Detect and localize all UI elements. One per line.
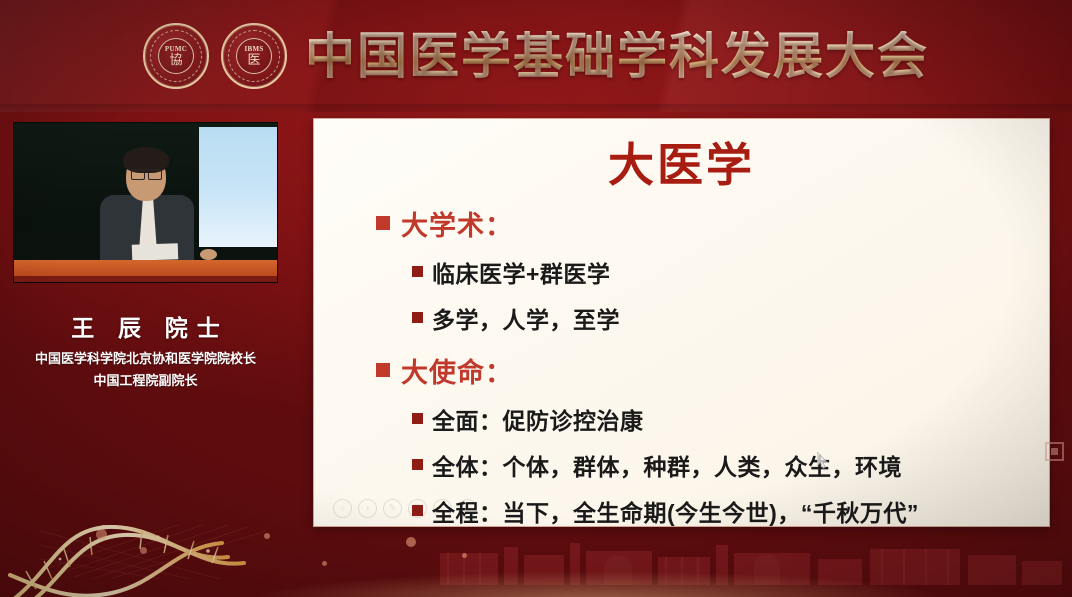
sub-bullet-square-icon [412, 312, 423, 323]
ibms-seal-inner: IBMS 医 [236, 38, 272, 74]
slideshow-toolbar[interactable]: ‹ › ✎ ▦ ⌕ ⋯ [333, 499, 477, 518]
slide-sub-item-text: 临床医学+群医学 [432, 255, 610, 289]
slide-sub-item-text: 多学，人学，至学 [432, 301, 620, 335]
presentation-slide[interactable]: 大医学 大学术： 临床医学+群医学 多学，人学，至学 大使命： [313, 118, 1050, 527]
ibms-seal-glyph: 医 [247, 53, 260, 66]
slide-sub-item: 全面：促防诊控治康 [412, 402, 1049, 436]
decor-dot [96, 529, 107, 540]
slide-title: 大医学 [314, 141, 1049, 192]
zoom-in-icon[interactable]: ⌕ [433, 499, 452, 518]
all-slides-icon[interactable]: ▦ [408, 499, 427, 518]
speaker-affiliation-secondary: 中国工程院副院长 [13, 371, 278, 391]
sub-bullet-square-icon [412, 459, 423, 470]
bullet-square-icon [376, 216, 390, 230]
speaker-panel: 王 辰 院士 中国医学科学院北京协和医学院院校长 中国工程院副院长 [13, 122, 278, 391]
university-seal-icon: PUMC 協 [143, 23, 209, 89]
slide-section-heading-text: 大学术： [401, 204, 513, 243]
bullet-square-icon [376, 363, 390, 377]
more-options-icon[interactable]: ⋯ [458, 499, 477, 518]
bottom-decoration [0, 525, 1072, 597]
slide-body: 大学术： 临床医学+群医学 多学，人学，至学 大使命： 全面：促防诊控治康 [314, 204, 1049, 527]
slide-section-heading-text: 大使命： [401, 351, 513, 390]
slide-sub-item: 全体：个体，群体，种群，人类，众生，环境 [412, 448, 1049, 482]
slide-sub-item-text: 全体：个体，群体，种群，人类，众生，环境 [432, 448, 902, 482]
speaker-hand [200, 249, 217, 260]
square-spiral-motif-icon [1045, 442, 1064, 461]
speaker-notes-paper [132, 243, 179, 261]
university-seal-glyph: 協 [169, 53, 182, 66]
decor-dot [462, 553, 467, 558]
slide-section-heading: 大学术： [376, 204, 1049, 243]
slide-sub-item-text: 全程：当下，全生命期(今生今世)，“千秋万代” [432, 494, 919, 527]
slide-sub-item: 全程：当下，全生命期(今生今世)，“千秋万代” [412, 494, 1049, 527]
podium [14, 260, 277, 278]
slide-sub-item-text: 全面：促防诊控治康 [432, 402, 644, 436]
slide-sub-item: 临床医学+群医学 [412, 255, 1049, 289]
previous-slide-icon[interactable]: ‹ [333, 499, 352, 518]
speaker-affiliation-primary: 中国医学科学院北京协和医学院院校长 [13, 349, 278, 369]
next-slide-icon[interactable]: › [358, 499, 377, 518]
speaker-glasses-icon [131, 169, 162, 177]
sub-bullet-square-icon [412, 266, 423, 277]
slide-section-heading: 大使命： [376, 351, 1049, 390]
decor-dot [140, 547, 147, 554]
video-projection-screen [199, 127, 277, 247]
sub-bullet-square-icon [412, 413, 423, 424]
decor-dot [264, 533, 270, 539]
ibms-seal-icon: IBMS 医 [221, 23, 287, 89]
decor-dot [322, 561, 327, 566]
conference-header-banner: PUMC 協 IBMS 医 中国医学基础学科发展大会 [0, 0, 1072, 112]
conference-title: 中国医学基础学科发展大会 [305, 31, 929, 81]
university-seal-inner: PUMC 協 [158, 38, 194, 74]
presentation-stream-stage: PUMC 協 IBMS 医 中国医学基础学科发展大会 [0, 0, 1072, 597]
section-spacer [376, 335, 1049, 349]
slide-sub-item: 多学，人学，至学 [412, 301, 1049, 335]
pen-tool-icon[interactable]: ✎ [383, 499, 402, 518]
decor-dot [406, 537, 416, 547]
speaker-video-feed[interactable] [13, 122, 278, 283]
speaker-name: 王 辰 院士 [13, 309, 278, 343]
stage-floor-glow [0, 571, 1072, 597]
